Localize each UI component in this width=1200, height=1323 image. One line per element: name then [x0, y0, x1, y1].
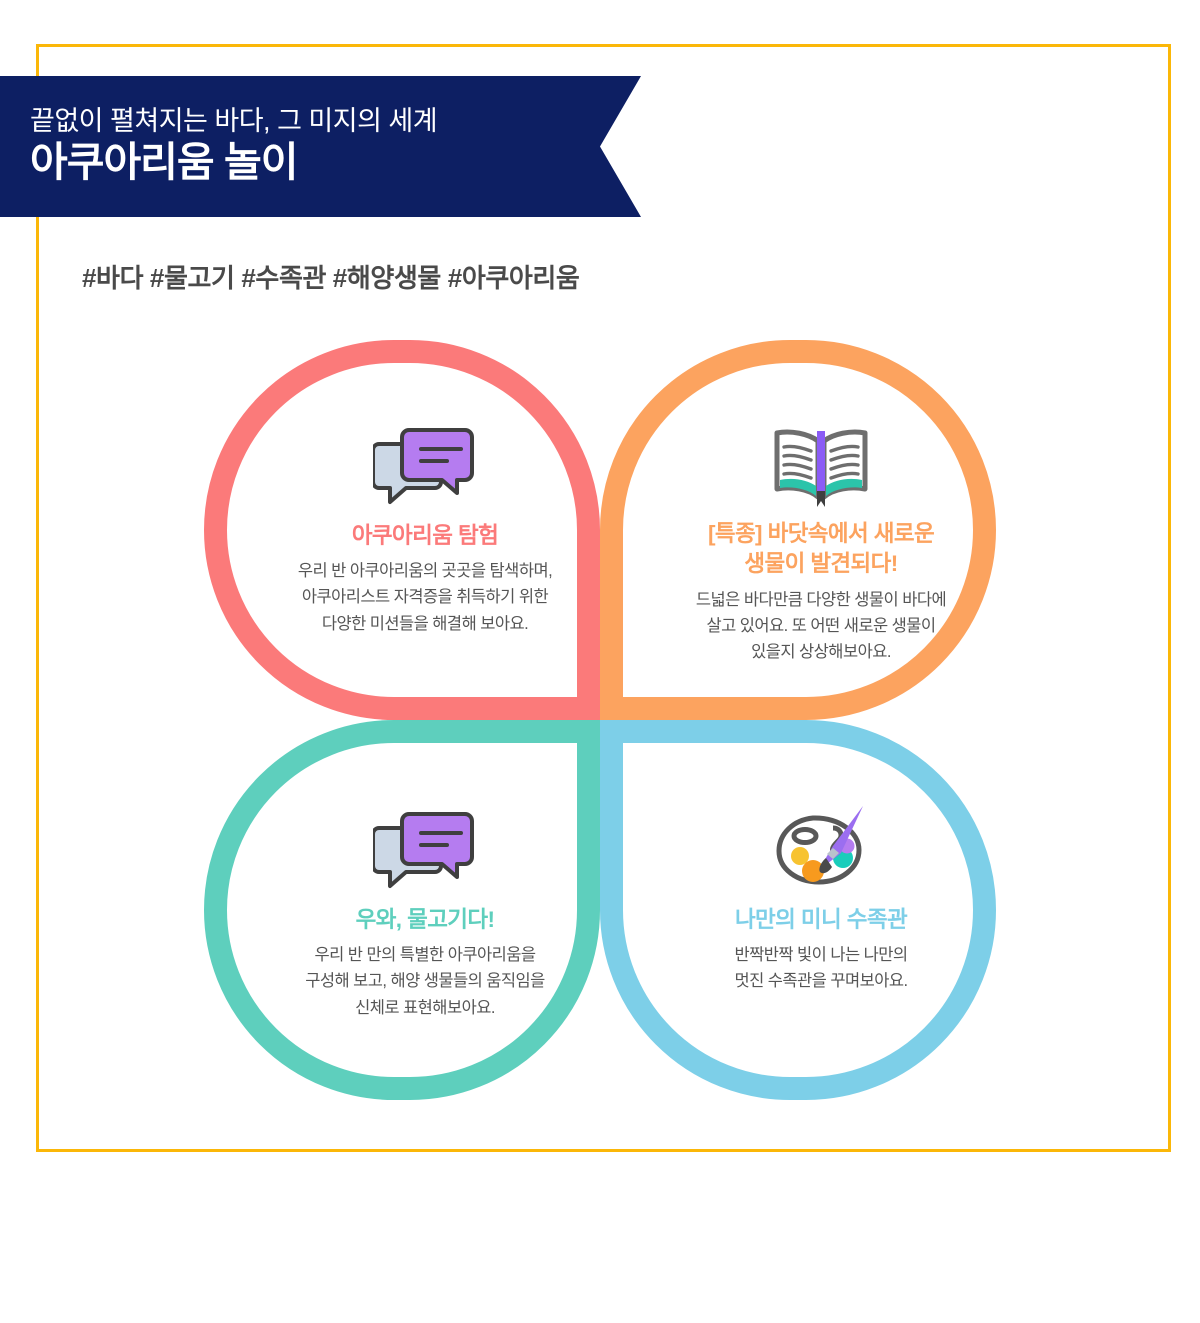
petal-title: 아쿠아리움 탐험 [352, 521, 498, 551]
petal-card-top-left[interactable]: 아쿠아리움 탐험 우리 반 아쿠아리움의 곳곳을 탐색하며, 아쿠아리스트 자격… [204, 340, 600, 720]
infographic-page: 끝없이 펼쳐지는 바다, 그 미지의 세계 아쿠아리움 놀이 #바다 #물고기 … [0, 0, 1200, 1323]
hashtag-line: #바다 #물고기 #수족관 #해양생물 #아쿠아리움 [82, 258, 579, 295]
header-banner: 끝없이 펼쳐지는 바다, 그 미지의 세계 아쿠아리움 놀이 [0, 76, 641, 217]
activity-petal-grid: 아쿠아리움 탐험 우리 반 아쿠아리움의 곳곳을 탐색하며, 아쿠아리스트 자격… [204, 340, 996, 1100]
petal-title: 우와, 물고기다! [356, 905, 495, 935]
petal-body: 반짝반짝 빛이 나는 나만의 멋진 수족관을 꾸며보아요. [734, 942, 907, 994]
petal-body: 우리 반 만의 특별한 아쿠아리움을 구성해 보고, 해양 생물들의 움직임을 … [305, 942, 545, 1020]
banner-subtitle: 끝없이 펼쳐지는 바다, 그 미지의 세계 [30, 106, 641, 136]
speech-bubbles-icon [373, 805, 477, 897]
banner-title: 아쿠아리움 놀이 [30, 138, 641, 186]
open-book-icon [771, 421, 871, 513]
petal-title: 나만의 미니 수족관 [735, 905, 907, 935]
petal-title: [특종] 바닷속에서 새로운 생물이 발견되다! [708, 519, 934, 580]
petal-card-bottom-left[interactable]: 우와, 물고기다! 우리 반 만의 특별한 아쿠아리움을 구성해 보고, 해양 … [204, 720, 600, 1100]
petal-card-bottom-right[interactable]: 나만의 미니 수족관 반짝반짝 빛이 나는 나만의 멋진 수족관을 꾸며보아요. [600, 720, 996, 1100]
paint-palette-icon [771, 805, 871, 897]
petal-card-top-right[interactable]: [특종] 바닷속에서 새로운 생물이 발견되다! 드넓은 바다만큼 다양한 생물… [600, 340, 996, 720]
speech-bubbles-icon [373, 421, 477, 513]
petal-body: 드넓은 바다만큼 다양한 생물이 바다에 살고 있어요. 또 어떤 새로운 생물… [696, 587, 946, 665]
petal-body: 우리 반 아쿠아리움의 곳곳을 탐색하며, 아쿠아리스트 자격증을 취득하기 위… [298, 558, 552, 636]
